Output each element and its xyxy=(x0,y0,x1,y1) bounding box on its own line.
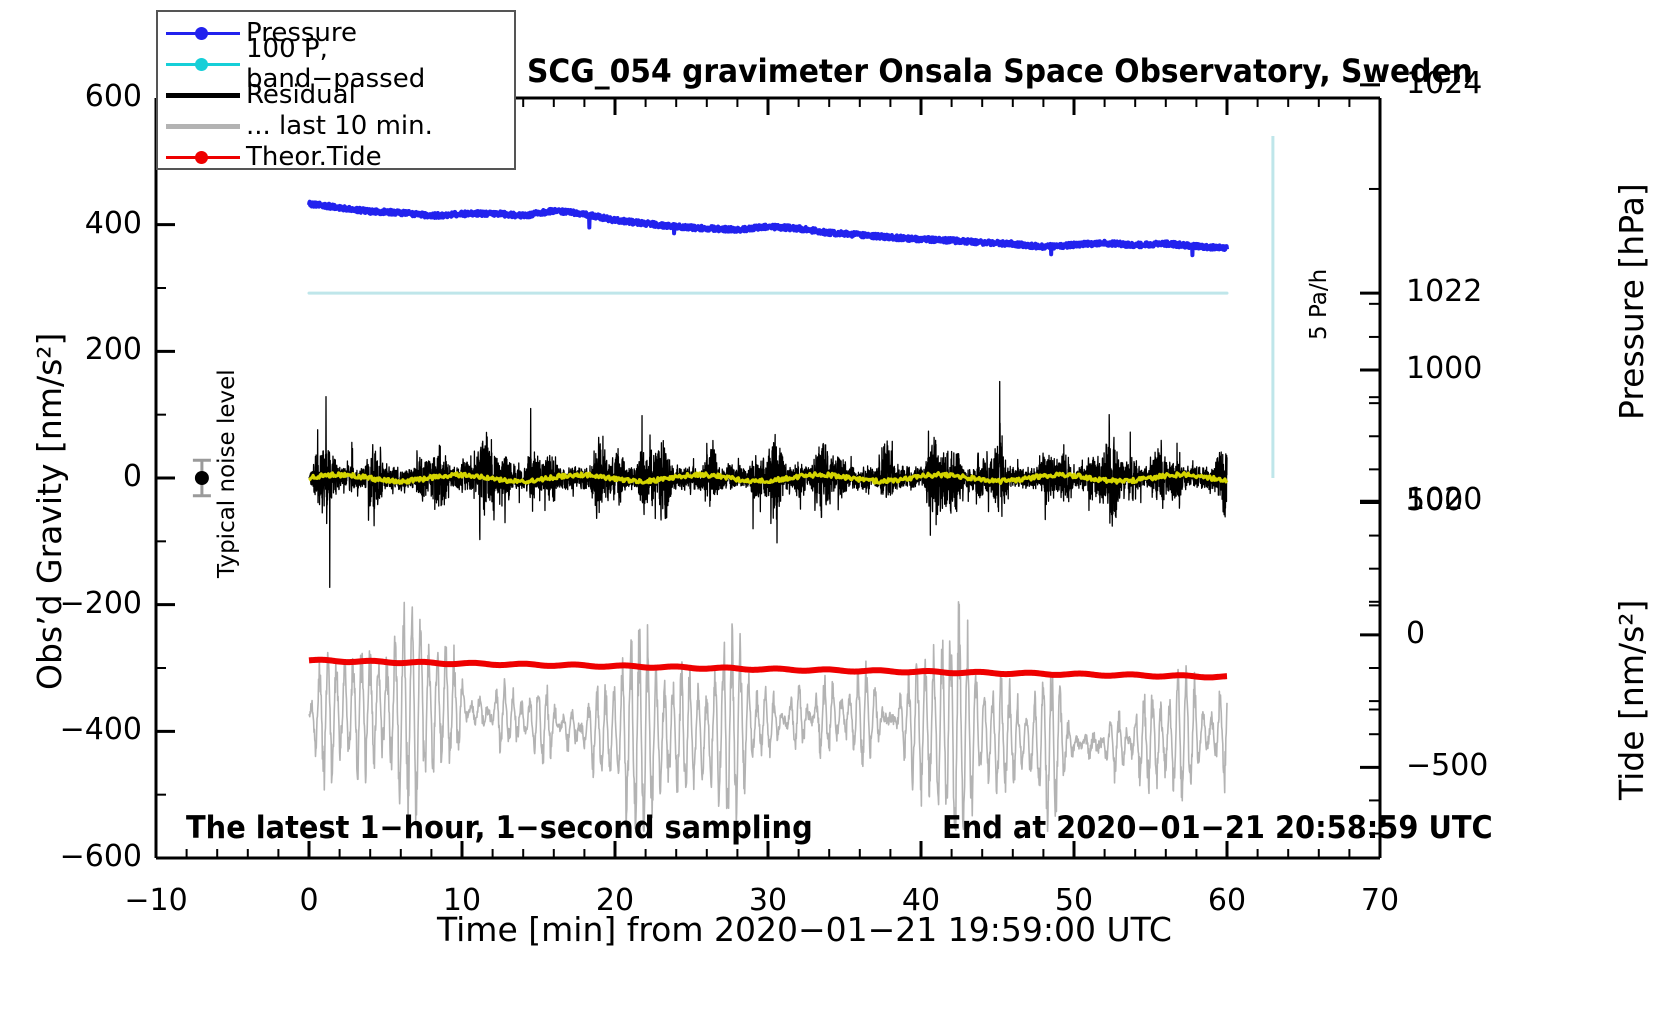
legend-item-label: Theor.Tide xyxy=(246,142,382,172)
series-residual xyxy=(309,382,1227,588)
axis-tick-label: 1000 xyxy=(1406,351,1482,386)
axis-tick-label: 30 xyxy=(749,883,787,918)
noise-level-label: Typical noise level xyxy=(214,369,240,578)
axis-tick-label: 70 xyxy=(1361,883,1399,918)
footer-right-note: End at 2020−01−21 20:58:59 UTC xyxy=(942,810,1493,846)
series-pressure xyxy=(309,202,1227,256)
legend-item[interactable]: Residual xyxy=(158,80,514,110)
legend-marker-last10 xyxy=(158,111,246,141)
y-axis-left-title: Obs’d Gravity [nm/s²] xyxy=(30,333,69,690)
axis-tick-label: −500 xyxy=(1406,748,1488,783)
legend-item[interactable]: 100 P, band−passed xyxy=(158,49,514,79)
axis-tick-label: 0 xyxy=(1406,616,1425,651)
axis-tick-label: −200 xyxy=(60,586,142,621)
axis-tick-label: 40 xyxy=(902,883,940,918)
axis-tick-label: −600 xyxy=(60,839,142,874)
axis-tick-label: 0 xyxy=(123,459,142,494)
legend-item-label: ... last 10 min. xyxy=(246,111,433,141)
legend-item-label: Residual xyxy=(246,80,356,110)
legend-marker-residual xyxy=(158,80,246,110)
noise-marker-dot xyxy=(195,471,209,485)
legend-line xyxy=(166,93,240,98)
legend-item[interactable]: ... last 10 min. xyxy=(158,111,514,141)
axis-tick-label: −10 xyxy=(124,883,187,918)
axis-tick-label: 0 xyxy=(299,883,318,918)
legend-marker-tide xyxy=(158,142,246,172)
legend-dot xyxy=(195,151,208,164)
legend: Pressure100 P, band−passedResidual... la… xyxy=(156,10,516,170)
legend-marker-bandpassed xyxy=(158,49,246,79)
axis-tick-label: 200 xyxy=(85,332,142,367)
chart-canvas: SCG_054 gravimeter Onsala Space Observat… xyxy=(0,0,1660,1020)
axis-tick-label: 600 xyxy=(85,79,142,114)
legend-line xyxy=(166,124,240,129)
axis-tick-label: 50 xyxy=(1055,883,1093,918)
series-last-10-min xyxy=(309,602,1227,832)
y-axis-tide-title: Tide [nm/s²] xyxy=(1612,600,1651,800)
axis-tick-label: 20 xyxy=(596,883,634,918)
axis-tick-label: 400 xyxy=(85,206,142,241)
footer-left-note: The latest 1−hour, 1−second sampling xyxy=(186,810,813,846)
axis-tick-label: 1022 xyxy=(1406,274,1482,309)
legend-marker-pressure xyxy=(158,18,246,48)
y-axis-pressure-title: Pressure [hPa] xyxy=(1612,183,1651,420)
axis-tick-label: 1024 xyxy=(1406,66,1482,101)
legend-dot xyxy=(195,58,208,71)
scale-bar-label: 5 Pa/h xyxy=(1306,269,1332,340)
axis-tick-label: 60 xyxy=(1208,883,1246,918)
legend-item[interactable]: Theor.Tide xyxy=(158,142,514,172)
axis-tick-label: 10 xyxy=(443,883,481,918)
axis-tick-label: 500 xyxy=(1406,483,1463,518)
page-title: SCG_054 gravimeter Onsala Space Observat… xyxy=(527,52,1473,90)
axis-tick-label: −400 xyxy=(60,712,142,747)
legend-dot xyxy=(195,27,208,40)
